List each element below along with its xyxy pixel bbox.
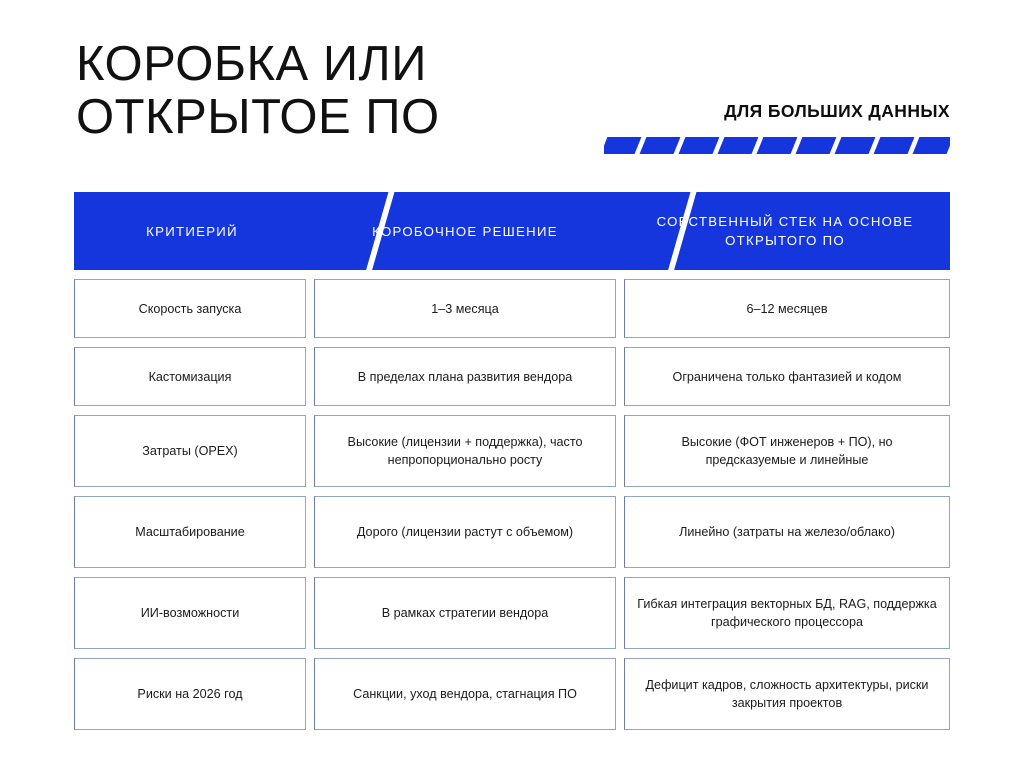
cell-boxed-solution: В пределах плана развития вендора bbox=[314, 347, 616, 406]
cell-open-source-stack: 6–12 месяцев bbox=[624, 279, 950, 338]
cell-open-source-stack: Высокие (ФОТ инженеров + ПО), но предска… bbox=[624, 415, 950, 487]
cell-criterion: Затраты (OPEX) bbox=[74, 415, 306, 487]
stripe-segment bbox=[835, 137, 876, 154]
subtitle: ДЛЯ БОЛЬШИХ ДАННЫХ bbox=[600, 100, 950, 122]
cell-criterion: Риски на 2026 год bbox=[74, 658, 306, 730]
comparison-table: КРИТИЕРИЙ КОРОБОЧНОЕ РЕШЕНИЕ СОБСТВЕННЫЙ… bbox=[74, 192, 950, 730]
table-row: Скорость запуска 1–3 месяца 6–12 месяцев bbox=[74, 279, 950, 338]
stripe-segment bbox=[679, 137, 720, 154]
column-header-criterion: КРИТИЕРИЙ bbox=[74, 192, 310, 270]
cell-open-source-stack: Гибкая интеграция векторных БД, RAG, под… bbox=[624, 577, 950, 649]
stripe-segment bbox=[718, 137, 759, 154]
cell-criterion: Кастомизация bbox=[74, 347, 306, 406]
column-header-open-source-stack: СОБСТВЕННЫЙ СТЕК НА ОСНОВЕ ОТКРЫТОГО ПО bbox=[620, 192, 950, 270]
stripe-segment bbox=[604, 137, 641, 154]
page-title: КОРОБКА ИЛИ ОТКРЫТОЕ ПО bbox=[76, 38, 546, 144]
table-row: Масштабирование Дорого (лицензии растут … bbox=[74, 496, 950, 568]
cell-boxed-solution: Высокие (лицензии + поддержка), часто не… bbox=[314, 415, 616, 487]
table-row: Кастомизация В пределах плана развития в… bbox=[74, 347, 950, 406]
cell-boxed-solution: Санкции, уход вендора, стагнация ПО bbox=[314, 658, 616, 730]
cell-open-source-stack: Дефицит кадров, сложность архитектуры, р… bbox=[624, 658, 950, 730]
cell-criterion: Скорость запуска bbox=[74, 279, 306, 338]
cell-open-source-stack: Ограничена только фантазией и кодом bbox=[624, 347, 950, 406]
cell-boxed-solution: Дорого (лицензии растут с объемом) bbox=[314, 496, 616, 568]
cell-criterion: ИИ-возможности bbox=[74, 577, 306, 649]
cell-open-source-stack: Линейно (затраты на железо/облако) bbox=[624, 496, 950, 568]
stripe-segment bbox=[757, 137, 798, 154]
cell-boxed-solution: 1–3 месяца bbox=[314, 279, 616, 338]
striped-accent-bar bbox=[604, 137, 950, 154]
table-row: Риски на 2026 год Санкции, уход вендора,… bbox=[74, 658, 950, 730]
stripe-segment bbox=[796, 137, 837, 154]
cell-criterion: Масштабирование bbox=[74, 496, 306, 568]
stripe-segment bbox=[913, 137, 950, 154]
page-title-line-1: КОРОБКА ИЛИ bbox=[76, 38, 546, 91]
stripe-segment bbox=[874, 137, 915, 154]
table-row: ИИ-возможности В рамках стратегии вендор… bbox=[74, 577, 950, 649]
slide: КОРОБКА ИЛИ ОТКРЫТОЕ ПО ДЛЯ БОЛЬШИХ ДАНН… bbox=[0, 0, 1024, 768]
stripe-segment bbox=[640, 137, 681, 154]
column-header-boxed-solution: КОРОБОЧНОЕ РЕШЕНИЕ bbox=[310, 192, 620, 270]
page-title-line-2: ОТКРЫТОЕ ПО bbox=[76, 91, 546, 144]
subtitle-text: ДЛЯ БОЛЬШИХ ДАННЫХ bbox=[600, 100, 950, 122]
table-header-row: КРИТИЕРИЙ КОРОБОЧНОЕ РЕШЕНИЕ СОБСТВЕННЫЙ… bbox=[74, 192, 950, 270]
cell-boxed-solution: В рамках стратегии вендора bbox=[314, 577, 616, 649]
table-row: Затраты (OPEX) Высокие (лицензии + подде… bbox=[74, 415, 950, 487]
